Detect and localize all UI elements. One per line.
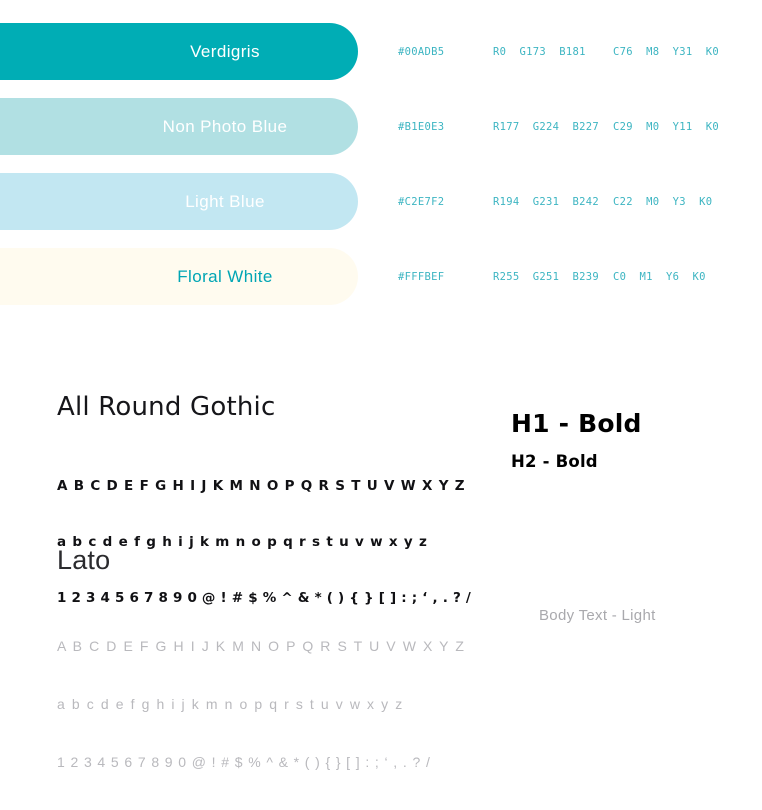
swatch-rgb-value: R0 G173 B181	[493, 46, 586, 58]
typeface-specimen-secondary: A B C D E F G H I J K M N O P Q R S T U …	[57, 598, 466, 810]
swatch-rgb-value: R255 G251 B239	[493, 271, 599, 283]
swatch-label: Light Blue	[0, 192, 358, 212]
color-swatch-light-blue[interactable]: Light Blue	[0, 173, 358, 230]
swatch-hex-value: #00ADB5	[398, 46, 444, 58]
swatch-cmyk-value: C76 M8 Y31 K0	[613, 46, 719, 58]
swatch-row: Non Photo Blue #B1E0E3 R177 G224 B227 C2…	[0, 98, 762, 155]
swatch-label: Non Photo Blue	[0, 117, 358, 137]
swatch-label: Verdigris	[0, 42, 358, 62]
typeface-secondary: Lato A B C D E F G H I J K M N O P Q R S…	[57, 545, 466, 810]
color-swatch-floral-white[interactable]: Floral White	[0, 248, 358, 305]
swatch-hex-value: #FFFBEF	[398, 271, 444, 283]
typeface-name-secondary: Lato	[57, 545, 466, 576]
color-swatch-verdigris[interactable]: Verdigris	[0, 23, 358, 80]
specimen-lowercase: a b c d e f g h i j k m n o p q r s t u …	[57, 695, 466, 714]
specimen-uppercase: A B C D E F G H I J K M N O P Q R S T U …	[57, 477, 471, 496]
swatch-rgb-value: R177 G224 B227	[493, 121, 599, 133]
color-palette: Verdigris #00ADB5 R0 G173 B181 C76 M8 Y3…	[0, 23, 762, 323]
sample-heading-1: H1 - Bold	[511, 409, 642, 438]
specimen-symbols: 1 2 3 4 5 6 7 8 9 0 @ ! # $ % ^ & * ( ) …	[57, 753, 466, 772]
swatch-cmyk-value: C29 M0 Y11 K0	[613, 121, 719, 133]
swatch-rgb-value: R194 G231 B242	[493, 196, 599, 208]
swatch-row: Light Blue #C2E7F2 R194 G231 B242 C22 M0…	[0, 173, 762, 230]
swatch-label: Floral White	[0, 267, 358, 287]
sample-body-text: Body Text - Light	[539, 607, 656, 624]
swatch-row: Verdigris #00ADB5 R0 G173 B181 C76 M8 Y3…	[0, 23, 762, 80]
color-swatch-non-photo-blue[interactable]: Non Photo Blue	[0, 98, 358, 155]
swatch-hex-value: #B1E0E3	[398, 121, 444, 133]
swatch-row: Floral White #FFFBEF R255 G251 B239 C0 M…	[0, 248, 762, 305]
specimen-uppercase: A B C D E F G H I J K M N O P Q R S T U …	[57, 637, 466, 656]
swatch-hex-value: #C2E7F2	[398, 196, 444, 208]
swatch-cmyk-value: C22 M0 Y3 K0	[613, 196, 712, 208]
swatch-cmyk-value: C0 M1 Y6 K0	[613, 271, 706, 283]
typeface-name-primary: All Round Gothic	[57, 392, 471, 422]
sample-heading-2: H2 - Bold	[511, 452, 598, 471]
